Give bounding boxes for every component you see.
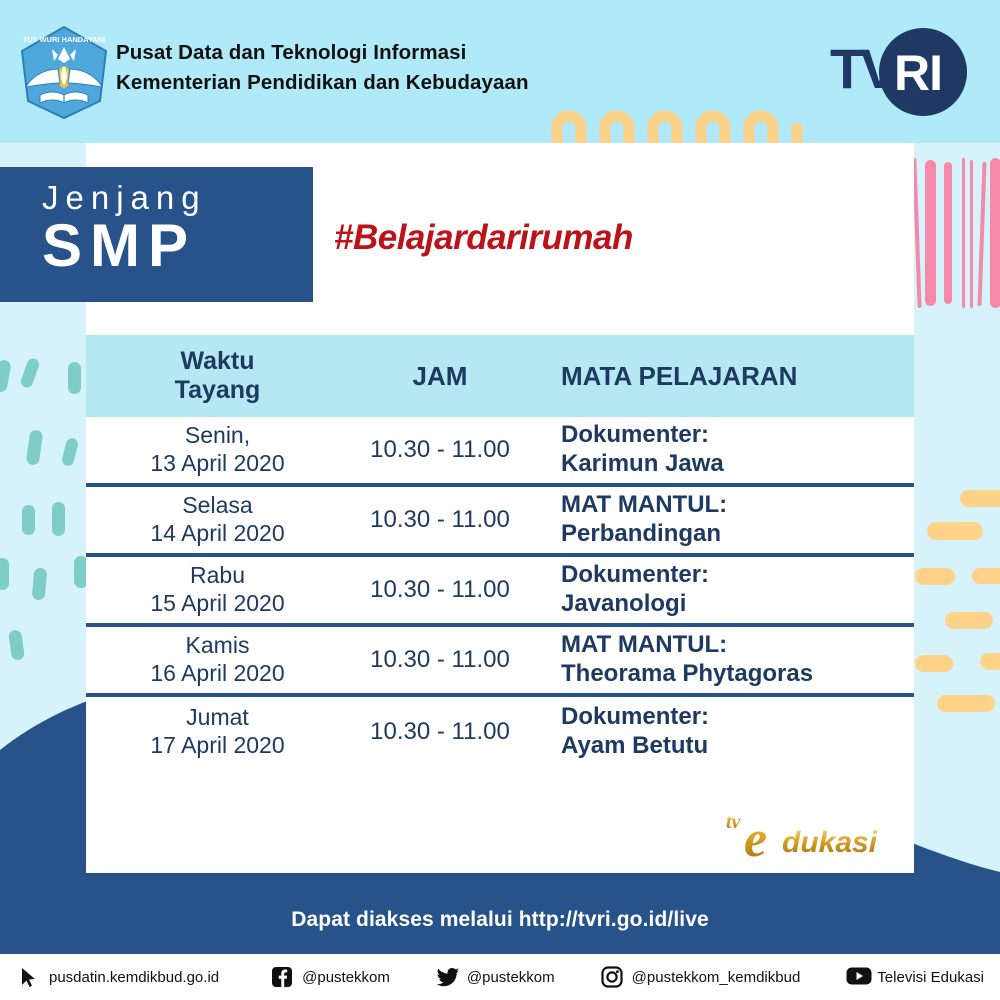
svg-text:TV: TV [830,37,897,100]
table-row: Rabu 15 April 2020 10.30 - 11.00 Dokumen… [86,557,914,627]
column-header-waktu-tayang: Waktu Tayang [86,347,349,406]
twitter-icon [436,966,458,988]
table-row: Selasa 14 April 2020 10.30 - 11.00 MAT M… [86,487,914,557]
svg-text:RI: RI [894,45,942,101]
table-row: Kamis 16 April 2020 10.30 - 11.00 MAT MA… [86,627,914,697]
cell-date: 15 April 2020 [86,590,349,618]
ministry-title-line2: Kementerian Pendidikan dan Kebudayaan [116,68,529,98]
facebook-icon [271,966,293,988]
cell-mata-pelajaran: Dokumenter: Javanologi [531,561,914,619]
footer-instagram-label: @pustekkom_kemdikbud [632,969,801,986]
footer-website-label: pusdatin.kemdikbud.go.id [49,969,219,986]
cell-mata-pelajaran: Dokumenter: Ayam Betutu [531,703,914,761]
cell-date: 16 April 2020 [86,660,349,688]
cell-day: Kamis [86,632,349,660]
footer-youtube[interactable]: Televisi Edukasi [846,966,984,988]
tv-edukasi-e: e [744,811,767,868]
footer-facebook[interactable]: @pustekkom [271,966,390,988]
cell-mata-pelajaran: MAT MANTUL: Theorama Phytagoras [531,631,914,689]
cell-jam: 10.30 - 11.00 [349,506,531,534]
cell-subject-line1: MAT MANTUL: [561,491,914,520]
tv-edukasi-logo: tv e dukasi [718,800,908,868]
cell-waktu-tayang: Kamis 16 April 2020 [86,632,349,687]
footer-social-strip: pusdatin.kemdikbud.go.id @pustekkom @pus… [0,954,1000,1000]
cell-jam: 10.30 - 11.00 [349,576,531,604]
cell-day: Selasa [86,492,349,520]
cell-day: Jumat [86,704,349,732]
cell-subject-line2: Theorama Phytagoras [561,660,914,689]
jenjang-label: Jenjang [42,181,313,216]
cell-waktu-tayang: Selasa 14 April 2020 [86,492,349,547]
cell-subject-line2: Perbandingan [561,520,914,549]
cell-waktu-tayang: Senin, 13 April 2020 [86,422,349,477]
cell-subject-line1: Dokumenter: [561,561,914,590]
footer-access-text: Dapat diakses melalui http://tvri.go.id/… [291,908,709,932]
cell-subject-line2: Javanologi [561,590,914,619]
footer-twitter-label: @pustekkom [467,969,555,986]
column-header-jam: JAM [349,361,531,392]
cell-subject-line1: MAT MANTUL: [561,631,914,660]
column-header-mata-pelajaran: MATA PELAJARAN [531,361,914,392]
tvri-logo: TV RI [826,26,976,118]
jenjang-badge: Jenjang SMP [0,167,313,302]
cell-jam: 10.30 - 11.00 [349,646,531,674]
cell-waktu-tayang: Jumat 17 April 2020 [86,704,349,759]
hashtag-belajardarirumah: #Belajardarirumah [334,218,633,258]
footer-instagram[interactable]: @pustekkom_kemdikbud [601,966,801,988]
cursor-icon [18,966,40,988]
jenjang-level: SMP [42,214,313,279]
footer-website[interactable]: pusdatin.kemdikbud.go.id [18,966,219,988]
instagram-icon [601,966,623,988]
cell-subject-line2: Karimun Jawa [561,450,914,479]
svg-text:TUT WURI HANDAYANI: TUT WURI HANDAYANI [23,35,105,44]
cell-jam: 10.30 - 11.00 [349,718,531,746]
cell-subject-line1: Dokumenter: [561,703,914,732]
cell-mata-pelajaran: MAT MANTUL: Perbandingan [531,491,914,549]
column-header-waktu-line1: Waktu [86,347,349,377]
cell-subject-line1: Dokumenter: [561,421,914,450]
cell-day: Rabu [86,562,349,590]
cell-day: Senin, [86,422,349,450]
tv-edukasi-name: dukasi [782,826,878,859]
table-row: Senin, 13 April 2020 10.30 - 11.00 Dokum… [86,417,914,487]
cell-jam: 10.30 - 11.00 [349,436,531,464]
cell-waktu-tayang: Rabu 15 April 2020 [86,562,349,617]
broadcast-schedule-table: Waktu Tayang JAM MATA PELAJARAN Senin, 1… [86,335,914,767]
cell-mata-pelajaran: Dokumenter: Karimun Jawa [531,421,914,479]
column-header-waktu-line2: Tayang [86,376,349,406]
tv-edukasi-prefix: tv [726,811,742,833]
tut-wuri-handayani-logo: TUT WURI HANDAYANI [18,25,110,120]
cell-date: 13 April 2020 [86,450,349,478]
footer-twitter[interactable]: @pustekkom [436,966,555,988]
cell-date: 17 April 2020 [86,732,349,760]
footer-facebook-label: @pustekkom [302,969,390,986]
cell-date: 14 April 2020 [86,520,349,548]
table-header-row: Waktu Tayang JAM MATA PELAJARAN [86,335,914,417]
footer-access-band: Dapat diakses melalui http://tvri.go.id/… [0,886,1000,954]
ministry-title-line1: Pusat Data dan Teknologi Informasi [116,38,529,68]
page-header: TUT WURI HANDAYANI Pusat Data dan Teknol… [0,0,1000,143]
ministry-title: Pusat Data dan Teknologi Informasi Kemen… [116,38,529,97]
youtube-icon [846,966,868,988]
cell-subject-line2: Ayam Betutu [561,732,914,761]
footer-youtube-label: Televisi Edukasi [877,969,984,986]
table-row: Jumat 17 April 2020 10.30 - 11.00 Dokume… [86,697,914,767]
